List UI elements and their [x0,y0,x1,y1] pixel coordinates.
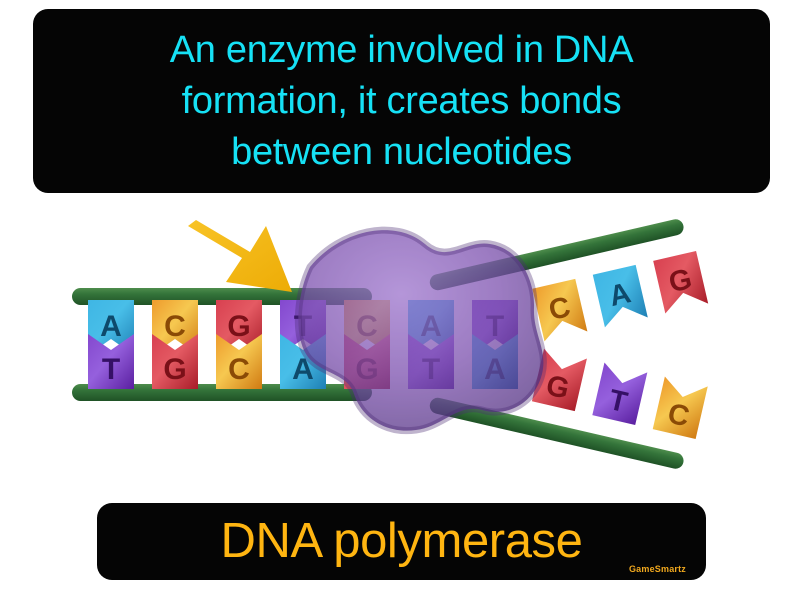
term-text: DNA polymerase [97,509,706,573]
watermark-label: GameSmartz [629,564,686,574]
base-tile-A-5: A [593,265,648,328]
flashcard: An enzyme involved in DNA formation, it … [0,0,800,600]
base-tile-G-4: G [653,251,708,314]
pointer-arrow [188,220,292,292]
svg-text:C: C [228,353,250,386]
term-banner: DNA polymerase GameSmartz [97,503,706,580]
svg-text:G: G [227,310,250,343]
svg-text:G: G [163,353,186,386]
svg-text:A: A [100,310,122,343]
definition-text: An enzyme involved in DNA formation, it … [156,25,648,178]
svg-text:C: C [164,310,186,343]
svg-text:T: T [102,353,120,386]
base-tile-T-5: T [592,363,647,426]
base-tile-C-5: C [653,376,708,439]
definition-banner: An enzyme involved in DNA formation, it … [33,9,770,193]
dna-replication-illustration: A C G T T G [0,196,800,496]
